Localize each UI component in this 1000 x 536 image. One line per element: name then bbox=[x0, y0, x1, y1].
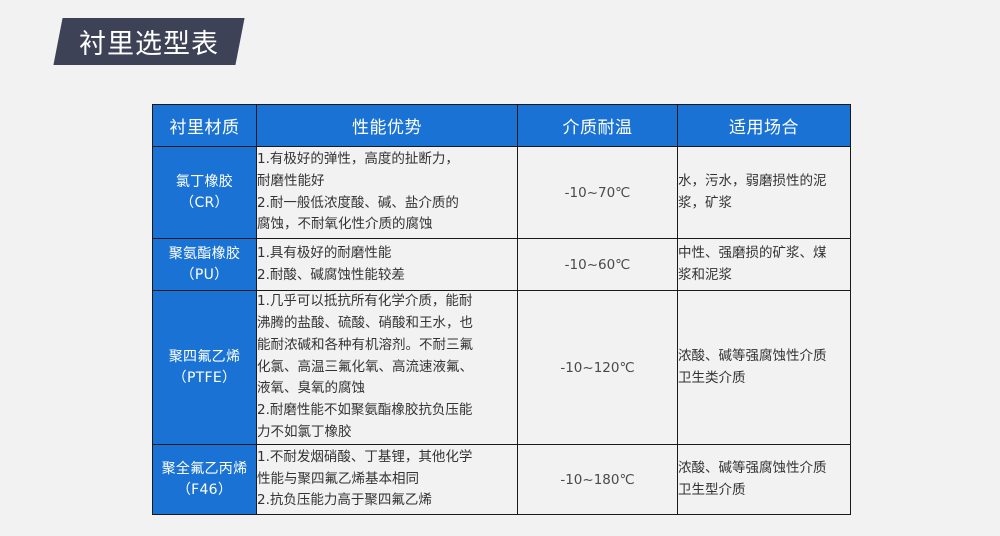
advantage-line: 2.耐磨性能不如聚氨酯橡胶抗负压能 bbox=[257, 400, 517, 422]
page-title: 衬里选型表 bbox=[58, 18, 240, 65]
material-name: 聚全氟乙丙烯 bbox=[153, 459, 256, 479]
advantage-line: 2.耐一般低浓度酸、碱、盐介质的 bbox=[257, 193, 517, 215]
advantage-line: 1.有极好的弹性，高度的扯断力， bbox=[257, 149, 517, 171]
column-header-usage: 适用场合 bbox=[678, 105, 851, 147]
usage-line: 卫生类介质 bbox=[678, 368, 850, 390]
cell-advantages: 1.不耐发烟硝酸、丁基锂，其他化学 性能与聚四氟乙烯基本相同 2.抗负压能力高于… bbox=[257, 445, 518, 515]
advantage-line: 能耐浓碱和各种有机溶剂。不耐三氟 bbox=[257, 335, 517, 357]
advantage-line: 1.具有极好的耐磨性能 bbox=[257, 243, 517, 265]
cell-material: 聚全氟乙丙烯 （F46） bbox=[153, 445, 257, 515]
material-name: 聚四氟乙烯 bbox=[153, 347, 256, 367]
cell-advantages: 1.有极好的弹性，高度的扯断力， 耐磨性能好 2.耐一般低浓度酸、碱、盐介质的 … bbox=[257, 147, 518, 239]
usage-line: 中性、强磨损的矿浆、煤 bbox=[678, 243, 850, 265]
usage-line: 浆，矿浆 bbox=[678, 193, 850, 215]
column-header-temperature: 介质耐温 bbox=[518, 105, 678, 147]
advantage-line: 2.耐酸、碱腐蚀性能较差 bbox=[257, 265, 517, 287]
cell-material: 聚四氟乙烯 （PTFE） bbox=[153, 291, 257, 445]
advantage-line: 2.抗负压能力高于聚四氟乙烯 bbox=[257, 490, 517, 512]
table-row: 氯丁橡胶 （CR） 1.有极好的弹性，高度的扯断力， 耐磨性能好 2.耐一般低浓… bbox=[153, 147, 851, 239]
advantage-line: 化氯、高温三氟化氧、高流速液氟、 bbox=[257, 357, 517, 379]
cell-usage: 中性、强磨损的矿浆、煤 浆和泥浆 bbox=[678, 239, 851, 291]
table-row: 聚全氟乙丙烯 （F46） 1.不耐发烟硝酸、丁基锂，其他化学 性能与聚四氟乙烯基… bbox=[153, 445, 851, 515]
cell-usage: 浓酸、碱等强腐蚀性介质 卫生型介质 bbox=[678, 445, 851, 515]
material-name: 氯丁橡胶 bbox=[153, 172, 256, 192]
material-code: （CR） bbox=[153, 193, 256, 213]
usage-line: 浓酸、碱等强腐蚀性介质 bbox=[678, 346, 850, 368]
cell-usage: 浓酸、碱等强腐蚀性介质 卫生类介质 bbox=[678, 291, 851, 445]
table-row: 聚四氟乙烯 （PTFE） 1.几乎可以抵抗所有化学介质，能耐 沸腾的盐酸、硫酸、… bbox=[153, 291, 851, 445]
material-name: 聚氨酯橡胶 bbox=[153, 244, 256, 264]
cell-temperature: -10~60℃ bbox=[518, 239, 678, 291]
table-row: 聚氨酯橡胶 （PU） 1.具有极好的耐磨性能 2.耐酸、碱腐蚀性能较差 -10~… bbox=[153, 239, 851, 291]
advantage-line: 性能与聚四氟乙烯基本相同 bbox=[257, 469, 517, 491]
usage-line: 卫生型介质 bbox=[678, 480, 850, 502]
cell-advantages: 1.几乎可以抵抗所有化学介质，能耐 沸腾的盐酸、硫酸、硝酸和王水，也 能耐浓碱和… bbox=[257, 291, 518, 445]
advantage-line: 液氧、臭氧的腐蚀 bbox=[257, 378, 517, 400]
advantage-line: 1.几乎可以抵抗所有化学介质，能耐 bbox=[257, 291, 517, 313]
advantage-line: 耐磨性能好 bbox=[257, 171, 517, 193]
cell-temperature: -10~70℃ bbox=[518, 147, 678, 239]
advantage-line: 腐蚀，不耐氧化性介质的腐蚀 bbox=[257, 214, 517, 236]
table-header-row: 衬里材质 性能优势 介质耐温 适用场合 bbox=[153, 105, 851, 147]
usage-line: 水，污水，弱磨损性的泥 bbox=[678, 171, 850, 193]
page-title-banner: 衬里选型表 bbox=[58, 18, 240, 65]
material-code: （PTFE） bbox=[153, 368, 256, 388]
column-header-advantages: 性能优势 bbox=[257, 105, 518, 147]
advantage-line: 沸腾的盐酸、硫酸、硝酸和王水，也 bbox=[257, 313, 517, 335]
cell-usage: 水，污水，弱磨损性的泥 浆，矿浆 bbox=[678, 147, 851, 239]
usage-line: 浓酸、碱等强腐蚀性介质 bbox=[678, 458, 850, 480]
cell-material: 聚氨酯橡胶 （PU） bbox=[153, 239, 257, 291]
cell-temperature: -10~120℃ bbox=[518, 291, 678, 445]
cell-advantages: 1.具有极好的耐磨性能 2.耐酸、碱腐蚀性能较差 bbox=[257, 239, 518, 291]
cell-material: 氯丁橡胶 （CR） bbox=[153, 147, 257, 239]
cell-temperature: -10~180℃ bbox=[518, 445, 678, 515]
material-code: （F46） bbox=[153, 480, 256, 500]
column-header-material: 衬里材质 bbox=[153, 105, 257, 147]
material-code: （PU） bbox=[153, 265, 256, 285]
advantage-line: 1.不耐发烟硝酸、丁基锂，其他化学 bbox=[257, 447, 517, 469]
lining-selection-table: 衬里材质 性能优势 介质耐温 适用场合 氯丁橡胶 （CR） 1.有极好的弹性，高… bbox=[152, 104, 851, 515]
advantage-line: 力不如氯丁橡胶 bbox=[257, 422, 517, 444]
usage-line: 浆和泥浆 bbox=[678, 265, 850, 287]
